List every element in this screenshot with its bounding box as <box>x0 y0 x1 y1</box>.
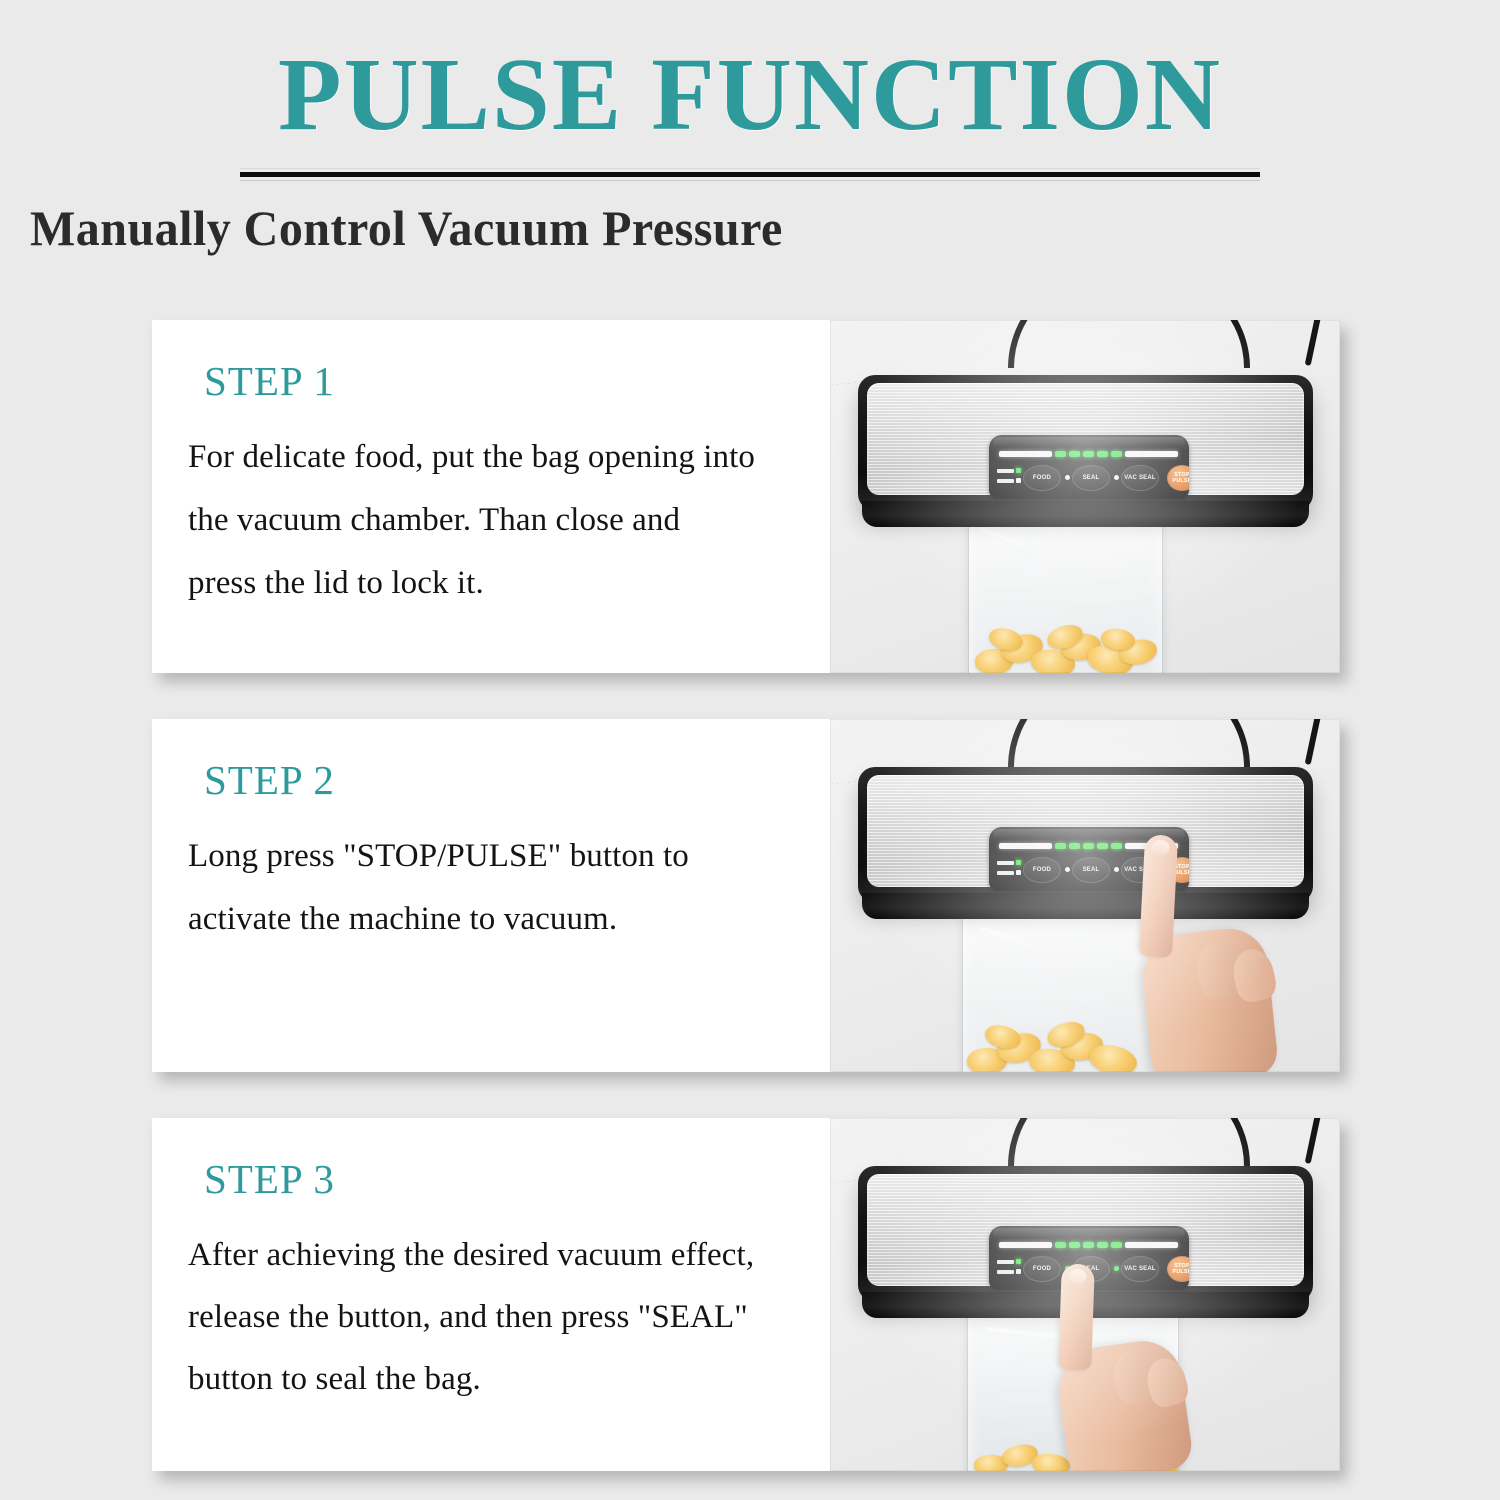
led-indicator <box>1055 451 1066 457</box>
step-heading: STEP 2 <box>204 757 796 803</box>
dry-moist-indicators <box>997 858 1023 882</box>
food-button[interactable]: FOOD <box>1023 465 1061 491</box>
step-body-line: button to seal the bag. <box>188 1348 796 1410</box>
vac-seal-status-led <box>1114 475 1119 480</box>
potato-chips <box>963 1014 1168 1072</box>
led-bar <box>999 450 1179 457</box>
vac-seal-status-led <box>1114 1266 1119 1271</box>
control-panel: FOOD SEAL VAC SEAL STOP PULSE <box>989 1226 1189 1290</box>
vac-seal-button[interactable]: VAC SEAL <box>1121 465 1159 491</box>
led-indicator <box>1083 843 1094 849</box>
led-indicator <box>1111 1242 1122 1248</box>
vac-seal-status-led <box>1114 867 1119 872</box>
power-cord-end <box>1305 320 1322 366</box>
led-indicator <box>1069 1242 1080 1248</box>
step-heading: STEP 3 <box>204 1156 796 1202</box>
step-photo: FOOD SEAL VAC SEAL STOP PULSE <box>830 1118 1340 1471</box>
food-button[interactable]: FOOD <box>1023 857 1061 883</box>
step-body-line: the vacuum chamber. Than close and <box>188 489 796 552</box>
dry-indicator-led <box>1016 468 1021 473</box>
dry-indicator-led <box>1016 860 1021 865</box>
page-subtitle: Manually Control Vacuum Pressure <box>30 198 1470 258</box>
led-indicator <box>1083 1242 1094 1248</box>
led-indicator <box>1083 451 1094 457</box>
vac-seal-button[interactable]: VAC SEAL <box>1121 857 1159 883</box>
seal-status-led <box>1065 867 1070 872</box>
stop-pulse-button[interactable]: STOP PULSE <box>1167 857 1189 883</box>
seal-button[interactable]: SEAL <box>1072 1256 1110 1282</box>
stop-pulse-button[interactable]: STOP PULSE <box>1167 1256 1189 1282</box>
potato-chips <box>969 614 1162 673</box>
led-indicator <box>1069 451 1080 457</box>
infographic-page: PULSE FUNCTION Manually Control Vacuum P… <box>0 0 1500 1500</box>
power-cord <box>1008 719 1250 767</box>
seal-status-led <box>1065 1266 1070 1271</box>
led-bar <box>999 1241 1179 1248</box>
led-indicator <box>1055 1242 1066 1248</box>
stop-pulse-button[interactable]: STOP PULSE <box>1167 465 1189 491</box>
step-card: STEP 3 After achieving the desired vacuu… <box>152 1118 1340 1471</box>
step-card: STEP 1 For delicate food, put the bag op… <box>152 320 1340 673</box>
led-bar <box>999 842 1179 849</box>
food-button[interactable]: FOOD <box>1023 1256 1061 1282</box>
step-text-panel: STEP 3 After achieving the desired vacuu… <box>152 1118 830 1471</box>
seal-status-led <box>1065 475 1070 480</box>
dry-moist-indicators <box>997 1257 1023 1281</box>
control-panel: FOOD SEAL VAC SEAL STOP PULSE <box>989 435 1189 499</box>
vacuum-sealer-device: FOOD SEAL VAC SEAL STOP PULSE <box>858 375 1313 511</box>
step-text-panel: STEP 1 For delicate food, put the bag op… <box>152 320 830 673</box>
step-photo: FOOD SEAL VAC SEAL STOP PULSE <box>830 719 1340 1072</box>
step-card: STEP 2 Long press "STOP/PULSE" button to… <box>152 719 1340 1072</box>
vac-seal-button[interactable]: VAC SEAL <box>1121 1256 1159 1282</box>
led-indicator <box>1111 843 1122 849</box>
power-cord <box>1008 320 1250 368</box>
vacuum-bag <box>968 503 1163 673</box>
dry-indicator-led <box>1016 1259 1021 1264</box>
step-body-line: After achieving the desired vacuum effec… <box>188 1224 796 1286</box>
seal-button[interactable]: SEAL <box>1072 857 1110 883</box>
title-divider <box>240 168 1260 181</box>
step-body-line: press the lid to lock it. <box>188 552 796 615</box>
step-body-line: Long press "STOP/PULSE" button to <box>188 825 796 888</box>
led-indicator <box>1097 451 1108 457</box>
potato-chips <box>968 1433 1178 1471</box>
step-body-line: For delicate food, put the bag opening i… <box>188 426 796 489</box>
power-cord-end <box>1305 1118 1322 1164</box>
step-body-line: release the button, and then press "SEAL… <box>188 1286 796 1348</box>
vacuum-sealer-device: FOOD SEAL VAC SEAL STOP PULSE <box>858 767 1313 903</box>
moist-indicator-led <box>1016 870 1021 875</box>
control-panel: FOOD SEAL VAC SEAL STOP PULSE <box>989 827 1189 891</box>
led-indicator <box>1097 1242 1108 1248</box>
vacuum-sealer-device: FOOD SEAL VAC SEAL STOP PULSE <box>858 1166 1313 1302</box>
led-indicator <box>1055 843 1066 849</box>
step-body-line: activate the machine to vacuum. <box>188 888 796 951</box>
power-cord-end <box>1305 719 1322 765</box>
seal-button[interactable]: SEAL <box>1072 465 1110 491</box>
led-indicator <box>1069 843 1080 849</box>
page-title: PULSE FUNCTION <box>0 40 1500 150</box>
power-cord <box>1008 1118 1250 1166</box>
vacuum-bag <box>962 895 1169 1072</box>
led-indicator <box>1111 451 1122 457</box>
vacuum-bag <box>967 1296 1179 1471</box>
step-heading: STEP 1 <box>204 358 796 404</box>
moist-indicator-led <box>1016 1269 1021 1274</box>
dry-moist-indicators <box>997 466 1023 490</box>
led-indicator <box>1097 843 1108 849</box>
step-photo: FOOD SEAL VAC SEAL STOP PULSE <box>830 320 1340 673</box>
step-text-panel: STEP 2 Long press "STOP/PULSE" button to… <box>152 719 830 1072</box>
moist-indicator-led <box>1016 478 1021 483</box>
